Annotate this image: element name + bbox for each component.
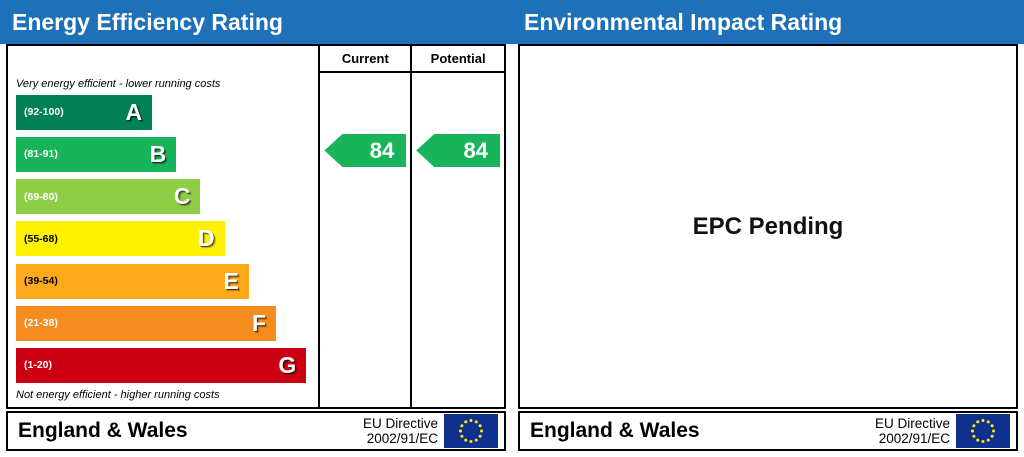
energy-directive-line1: EU Directive	[363, 416, 438, 431]
potential-rating-arrow: 84	[416, 134, 500, 167]
environmental-footer-directive: EU Directive 2002/91/EC	[875, 413, 1016, 449]
energy-directive-text: EU Directive 2002/91/EC	[363, 416, 438, 446]
top-efficiency-note: Very energy efficient - lower running co…	[8, 73, 318, 95]
energy-efficiency-chart: Very energy efficient - lower running co…	[6, 44, 506, 409]
band-f-letter: F	[252, 312, 266, 335]
band-c-range: (69-80)	[24, 192, 58, 203]
current-rating-value: 84	[370, 138, 394, 164]
band-b: (81-91) B	[16, 137, 176, 172]
band-a-letter: A	[125, 101, 142, 124]
energy-efficiency-panel: Energy Efficiency Rating Very energy eff…	[0, 0, 512, 457]
current-rating-column: Current 84	[320, 46, 412, 407]
band-f-range: (21-38)	[24, 318, 58, 329]
band-c: (69-80) C	[16, 179, 200, 214]
environmental-impact-header: Environmental Impact Rating	[512, 0, 1024, 44]
potential-rating-column: Potential 84	[412, 46, 504, 407]
band-list: (92-100) A (81-91) B (69-80) C	[8, 95, 318, 383]
current-column-header: Current	[320, 46, 410, 73]
band-g-letter: G	[278, 354, 296, 377]
energy-efficiency-header: Energy Efficiency Rating	[0, 0, 512, 44]
band-d-range: (55-68)	[24, 234, 58, 245]
band-e-range: (39-54)	[24, 276, 58, 287]
bottom-efficiency-note: Not energy efficient - higher running co…	[8, 383, 318, 407]
band-c-letter: C	[174, 185, 191, 208]
band-d-letter: D	[198, 227, 215, 250]
band-g-range: (1-20)	[24, 360, 52, 371]
environmental-directive-text: EU Directive 2002/91/EC	[875, 416, 950, 446]
potential-rating-value: 84	[464, 138, 488, 164]
environmental-footer-region: England & Wales	[520, 413, 875, 449]
epc-rating-page: Energy Efficiency Rating Very energy eff…	[0, 0, 1024, 457]
band-g: (1-20) G	[16, 348, 306, 383]
environmental-impact-panel: Environmental Impact Rating EPC Pending …	[512, 0, 1024, 457]
eu-flag-icon	[956, 414, 1010, 448]
epc-pending-message: EPC Pending	[693, 213, 844, 241]
environmental-page-title: Environmental Impact Rating	[524, 11, 842, 34]
band-f: (21-38) F	[16, 306, 276, 341]
band-e-letter: E	[224, 270, 239, 293]
potential-rating-body: 84	[412, 73, 504, 407]
potential-column-header: Potential	[412, 46, 504, 73]
band-d: (55-68) D	[16, 221, 225, 256]
bands-column: Very energy efficient - lower running co…	[8, 46, 320, 407]
energy-footer-region: England & Wales	[8, 413, 363, 449]
band-a-range: (92-100)	[24, 107, 64, 118]
band-b-range: (81-91)	[24, 149, 58, 160]
environmental-directive-line2: 2002/91/EC	[875, 431, 950, 446]
eu-flag-icon	[444, 414, 498, 448]
band-e: (39-54) E	[16, 264, 249, 299]
current-rating-body: 84	[320, 73, 410, 407]
energy-footer: England & Wales EU Directive 2002/91/EC	[6, 411, 506, 451]
band-a: (92-100) A	[16, 95, 152, 130]
page-title: Energy Efficiency Rating	[12, 11, 283, 34]
current-rating-arrow: 84	[324, 134, 406, 167]
bands-column-header-spacer	[8, 46, 318, 73]
environmental-message-frame: EPC Pending	[518, 44, 1018, 409]
energy-directive-line2: 2002/91/EC	[363, 431, 438, 446]
energy-footer-directive: EU Directive 2002/91/EC	[363, 413, 504, 449]
band-b-letter: B	[150, 143, 167, 166]
environmental-footer: England & Wales EU Directive 2002/91/EC	[518, 411, 1018, 451]
environmental-directive-line1: EU Directive	[875, 416, 950, 431]
